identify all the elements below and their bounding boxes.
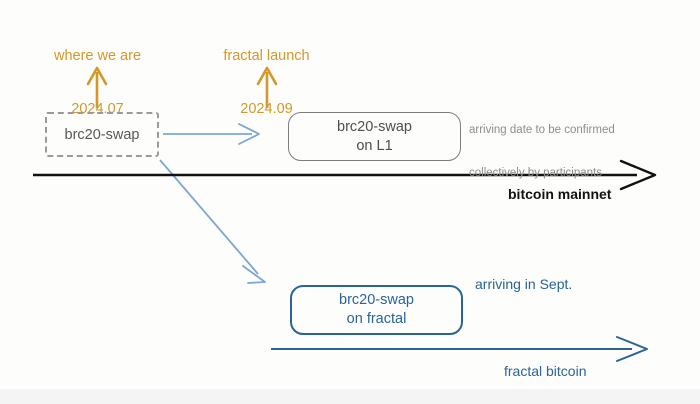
node-brc20-swap-on-l1[interactable]: brc20-swap on L1 (288, 112, 461, 161)
annotation-fractal-launch-line1: fractal launch (199, 48, 334, 66)
node-brc20-swap-on-fractal-line2: on fractal (347, 310, 407, 329)
note-fractal-arriving-sept: arriving in Sept. (475, 276, 572, 293)
bottom-edge-band (0, 389, 700, 404)
note-l1-arriving-date-line1: arriving date to be confirmed (469, 123, 694, 137)
flow-arrow-to-fractal-icon (160, 160, 265, 283)
node-brc20-swap-on-l1-line1: brc20-swap (337, 118, 412, 137)
node-brc20-swap-current[interactable]: brc20-swap (45, 112, 159, 157)
annotation-where-we-are-line1: where we are (30, 48, 165, 66)
axis-label-bitcoin-mainnet: bitcoin mainnet (508, 186, 611, 203)
node-brc20-swap-on-fractal-line1: brc20-swap (339, 291, 414, 310)
node-brc20-swap-on-fractal[interactable]: brc20-swap on fractal (290, 285, 463, 335)
node-brc20-swap-current-label: brc20-swap (65, 127, 140, 143)
node-brc20-swap-on-l1-line2: on L1 (356, 137, 392, 156)
note-l1-arriving-date-line2: collectively by participants (469, 166, 694, 180)
axis-label-fractal-bitcoin: fractal bitcoin (504, 363, 586, 380)
diagram-canvas: where we are 2024.07 fractal launch 2024… (0, 0, 700, 404)
fractal-bitcoin-timeline-axis (271, 337, 647, 361)
